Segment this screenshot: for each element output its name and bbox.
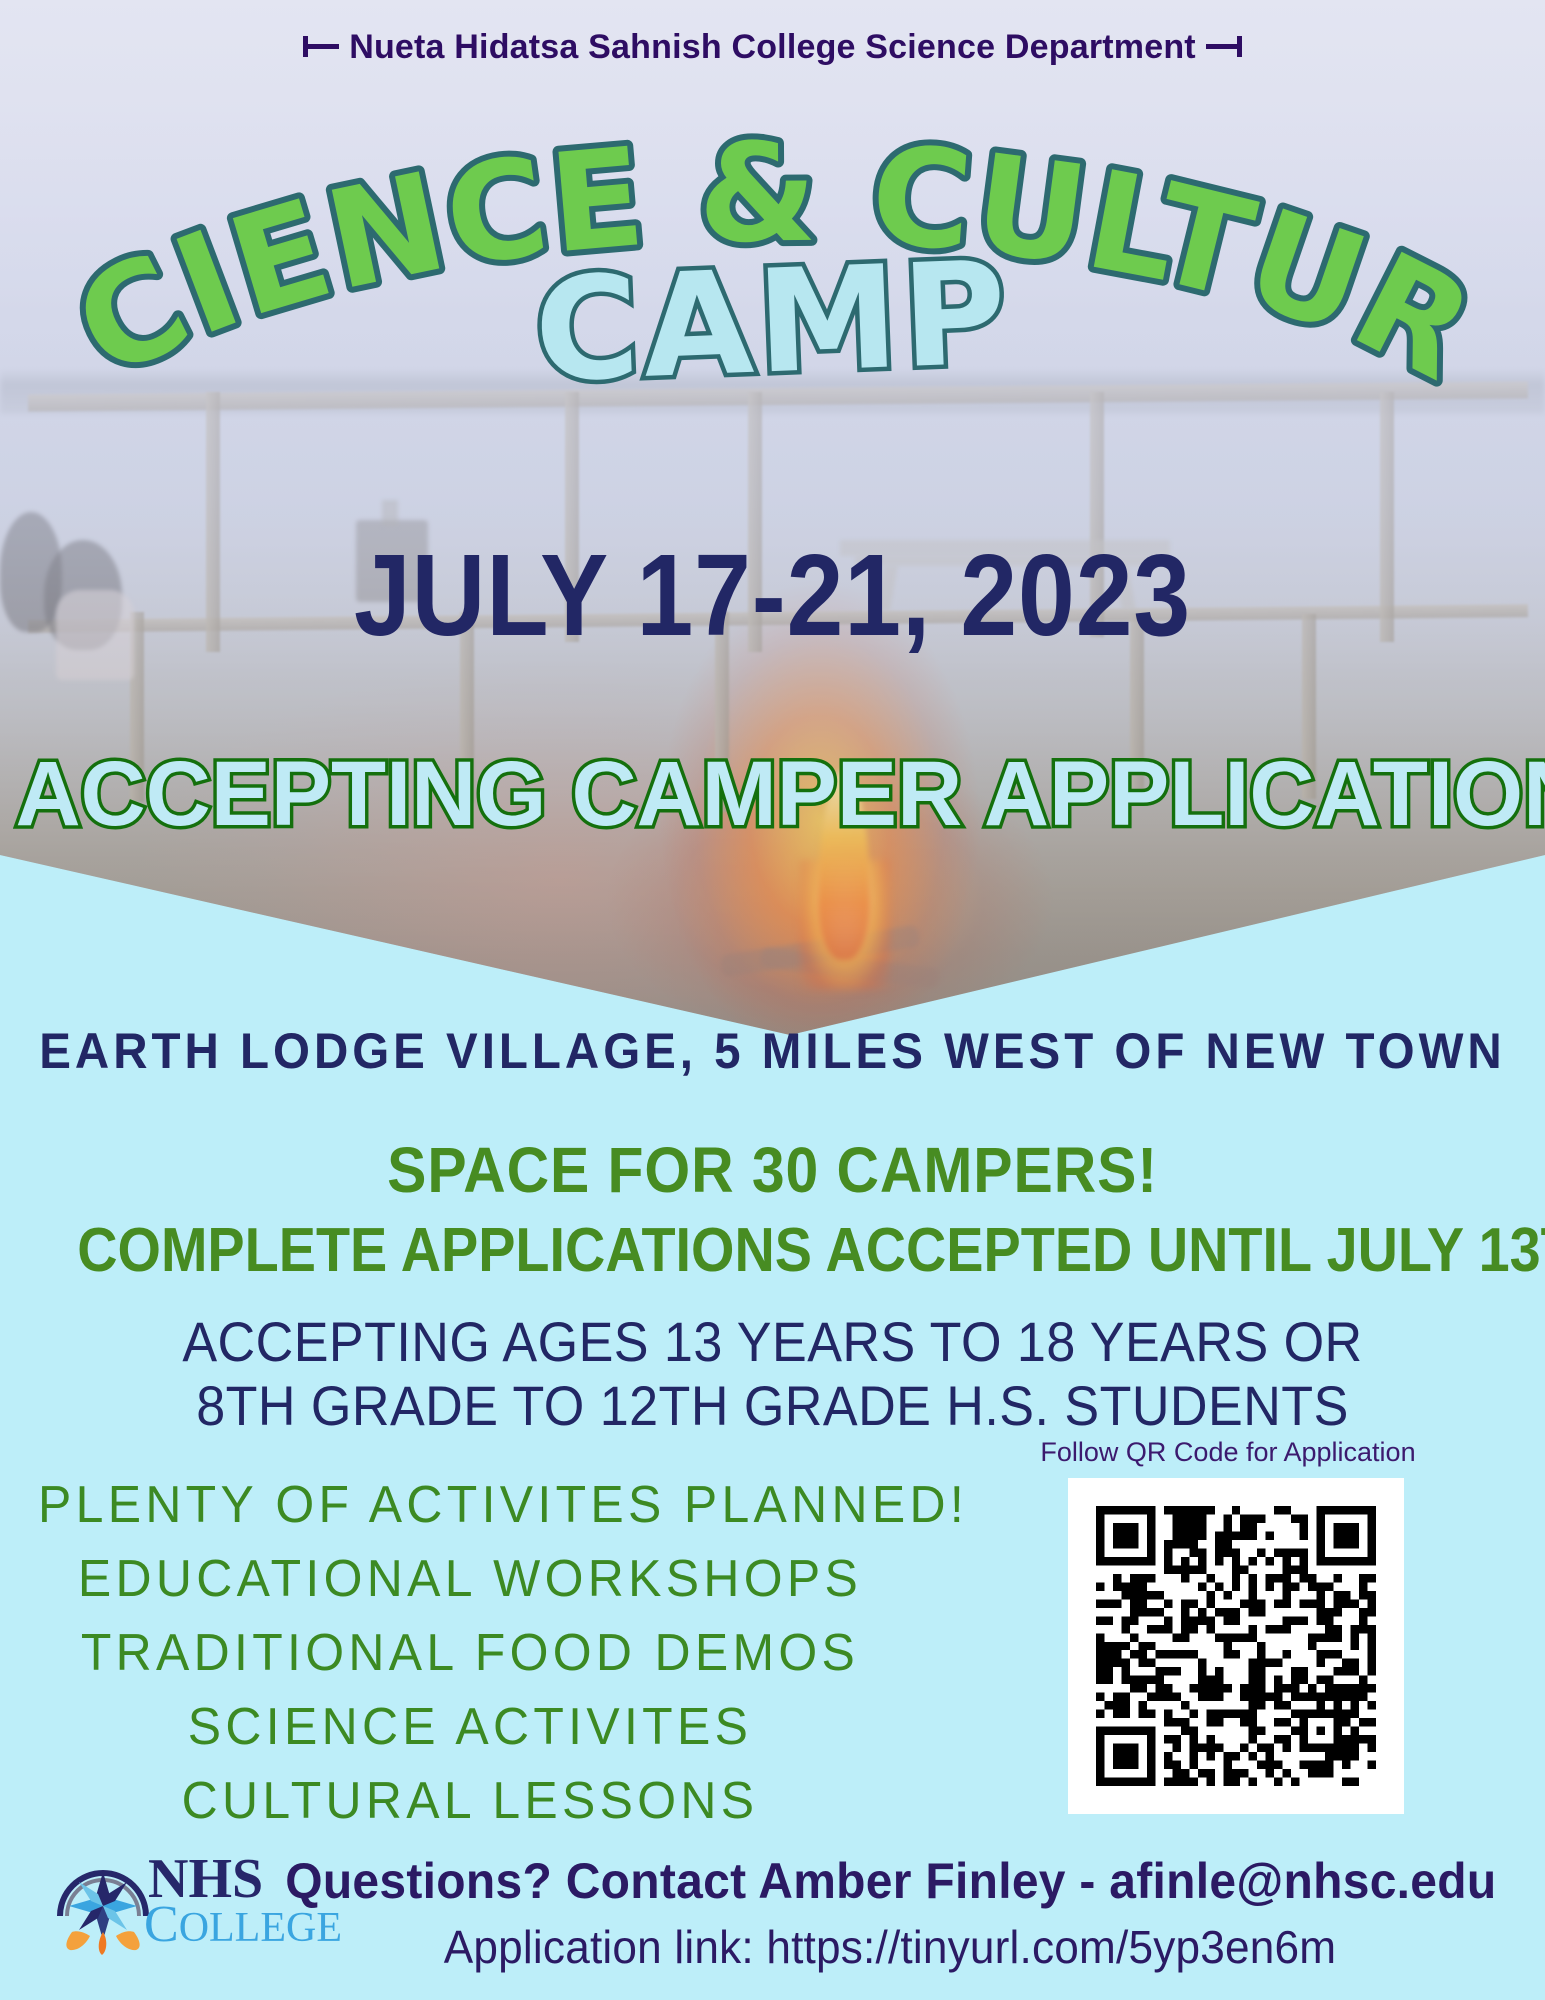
eligibility-block: ACCEPTING AGES 13 YEARS TO 18 YEARS OR 8… — [0, 1310, 1545, 1438]
list-item: TRADITIONAL FOOD DEMOS — [38, 1616, 902, 1690]
list-item: EDUCATIONAL WORKSHOPS — [38, 1542, 902, 1616]
camper-capacity: SPACE FOR 30 CAMPERS! — [62, 1133, 1483, 1207]
flyer-page: Nueta Hidatsa Sahnish College Science De… — [0, 0, 1545, 2000]
application-link[interactable]: Application link: https://tinyurl.com/5y… — [285, 1920, 1495, 1974]
list-item: SCIENCE ACTIVITES — [38, 1690, 902, 1764]
contact-info[interactable]: Questions? Contact Amber Finley - afinle… — [285, 1852, 1495, 1910]
accepting-applications-banner: ACCEPTING CAMPER APPLICATIONS! — [15, 742, 1529, 847]
list-item: PLENTY OF ACTIVITES PLANNED! — [38, 1468, 902, 1542]
rule-right-icon — [1206, 44, 1242, 49]
camp-date: JULY 17-21, 2023 — [93, 528, 1453, 662]
eligibility-ages: ACCEPTING AGES 13 YEARS TO 18 YEARS OR — [54, 1310, 1491, 1374]
department-header-label: Nueta Hidatsa Sahnish College Science De… — [349, 28, 1196, 66]
list-item: CULTURAL LESSONS — [38, 1764, 902, 1838]
department-header: Nueta Hidatsa Sahnish College Science De… — [0, 28, 1545, 67]
application-deadline: COMPLETE APPLICATIONS ACCEPTED UNTIL JUL… — [77, 1215, 1468, 1286]
camp-location: EARTH LODGE VILLAGE, 5 MILES WEST OF NEW… — [39, 1022, 1507, 1080]
activities-list: PLENTY OF ACTIVITES PLANNED! EDUCATIONAL… — [20, 1468, 920, 1838]
qr-code-image[interactable] — [1096, 1506, 1376, 1786]
rule-left-icon — [303, 44, 339, 49]
qr-code-panel[interactable] — [1068, 1478, 1404, 1814]
eligibility-grades: 8TH GRADE TO 12TH GRADE H.S. STUDENTS — [54, 1374, 1491, 1438]
dreamcatcher-star-icon — [48, 1852, 158, 1962]
logo-college-cap: C — [144, 1896, 179, 1953]
qr-code-caption: Follow QR Code for Application — [1028, 1437, 1428, 1468]
